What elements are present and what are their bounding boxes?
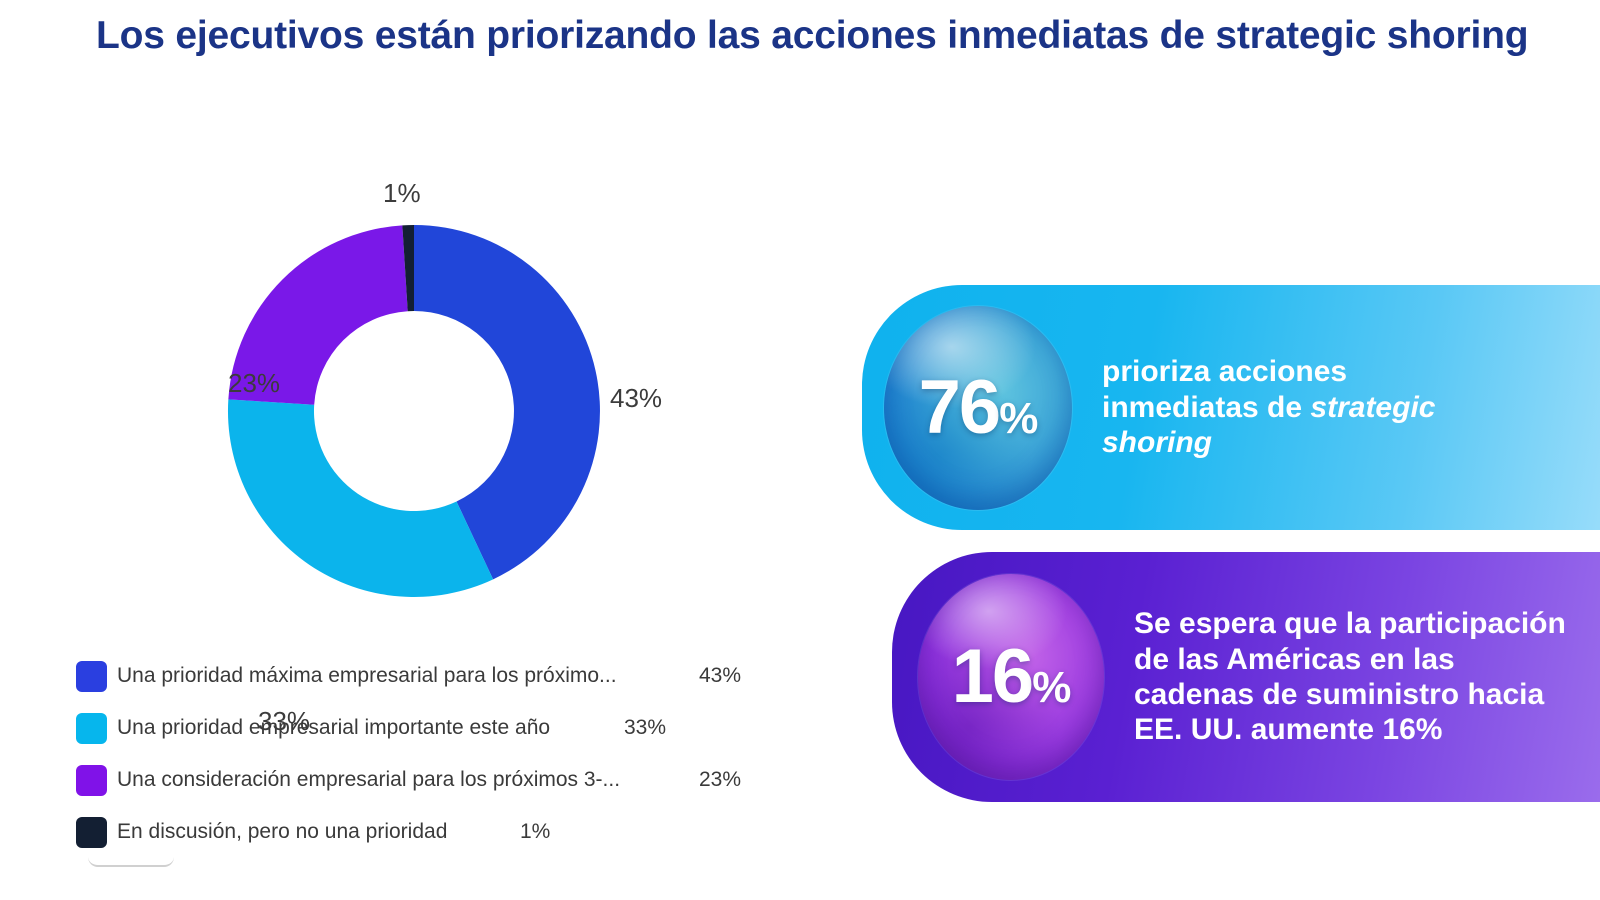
legend-item-2[interactable]: Una consideración empresarial para los p… — [76, 754, 816, 806]
percent-symbol: % — [1032, 663, 1070, 712]
donut-chart: 43% 33% 23% 1% — [120, 140, 820, 660]
percent-symbol: % — [999, 394, 1037, 443]
legend-item-label: Una consideración empresarial para los p… — [117, 768, 620, 792]
legend-underline-artifact — [88, 853, 174, 867]
legend-color-swatch-cyan — [76, 713, 107, 744]
stat-card-16[interactable]: 16% Se espera que la participación de la… — [892, 552, 1600, 802]
donut-slice-1[interactable] — [228, 399, 493, 597]
donut-chart-svg — [120, 140, 820, 660]
stat-card-76[interactable]: 76% prioriza acciones inmediatas de stra… — [862, 285, 1600, 530]
legend-item-label: Una prioridad máxima empresarial para lo… — [117, 664, 617, 688]
stat-text-line-3: shoring — [1102, 425, 1522, 460]
stat-card-text-blue: prioriza acciones inmediatas de strategi… — [1102, 354, 1522, 460]
donut-slice-value-0: 43% — [610, 383, 662, 414]
stat-bubble-value: 76% — [884, 370, 1072, 446]
stat-text-line-1: prioriza acciones — [1102, 354, 1522, 389]
legend-color-swatch-blue — [76, 661, 107, 692]
legend-color-swatch-navy — [76, 817, 107, 848]
stat-bubble-purple: 16% — [918, 574, 1104, 780]
legend-item-label: Una prioridad empresarial importante est… — [117, 716, 550, 740]
donut-slice-value-3: 1% — [383, 178, 421, 209]
legend-item-value: 33% — [624, 716, 666, 740]
stat-bubble-value: 16% — [918, 639, 1104, 715]
legend-item-value: 23% — [699, 768, 741, 792]
page-title: Los ejecutivos están priorizando las acc… — [96, 14, 1516, 59]
legend-item-1[interactable]: Una prioridad empresarial importante est… — [76, 702, 816, 754]
stat-text-line-2: inmediatas de strategic — [1102, 390, 1522, 425]
stat-bubble-blue: 76% — [884, 306, 1072, 510]
legend-item-0[interactable]: Una prioridad máxima empresarial para lo… — [76, 650, 816, 702]
legend-item-label: En discusión, pero no una prioridad — [117, 820, 447, 844]
legend-item-value: 43% — [699, 664, 741, 688]
chart-legend: Una prioridad máxima empresarial para lo… — [76, 650, 816, 858]
legend-color-swatch-purple — [76, 765, 107, 796]
stat-number: 16 — [952, 634, 1033, 719]
stat-text-plain: inmediatas de — [1102, 391, 1310, 424]
stat-text-italic: strategic — [1310, 391, 1435, 424]
stat-card-text-purple: Se espera que la participación de las Am… — [1134, 606, 1566, 748]
legend-item-3[interactable]: En discusión, pero no una prioridad 1% — [76, 806, 816, 858]
donut-slice-value-2: 23% — [228, 368, 280, 399]
stat-number: 76 — [919, 365, 1000, 450]
legend-item-value: 1% — [520, 820, 550, 844]
